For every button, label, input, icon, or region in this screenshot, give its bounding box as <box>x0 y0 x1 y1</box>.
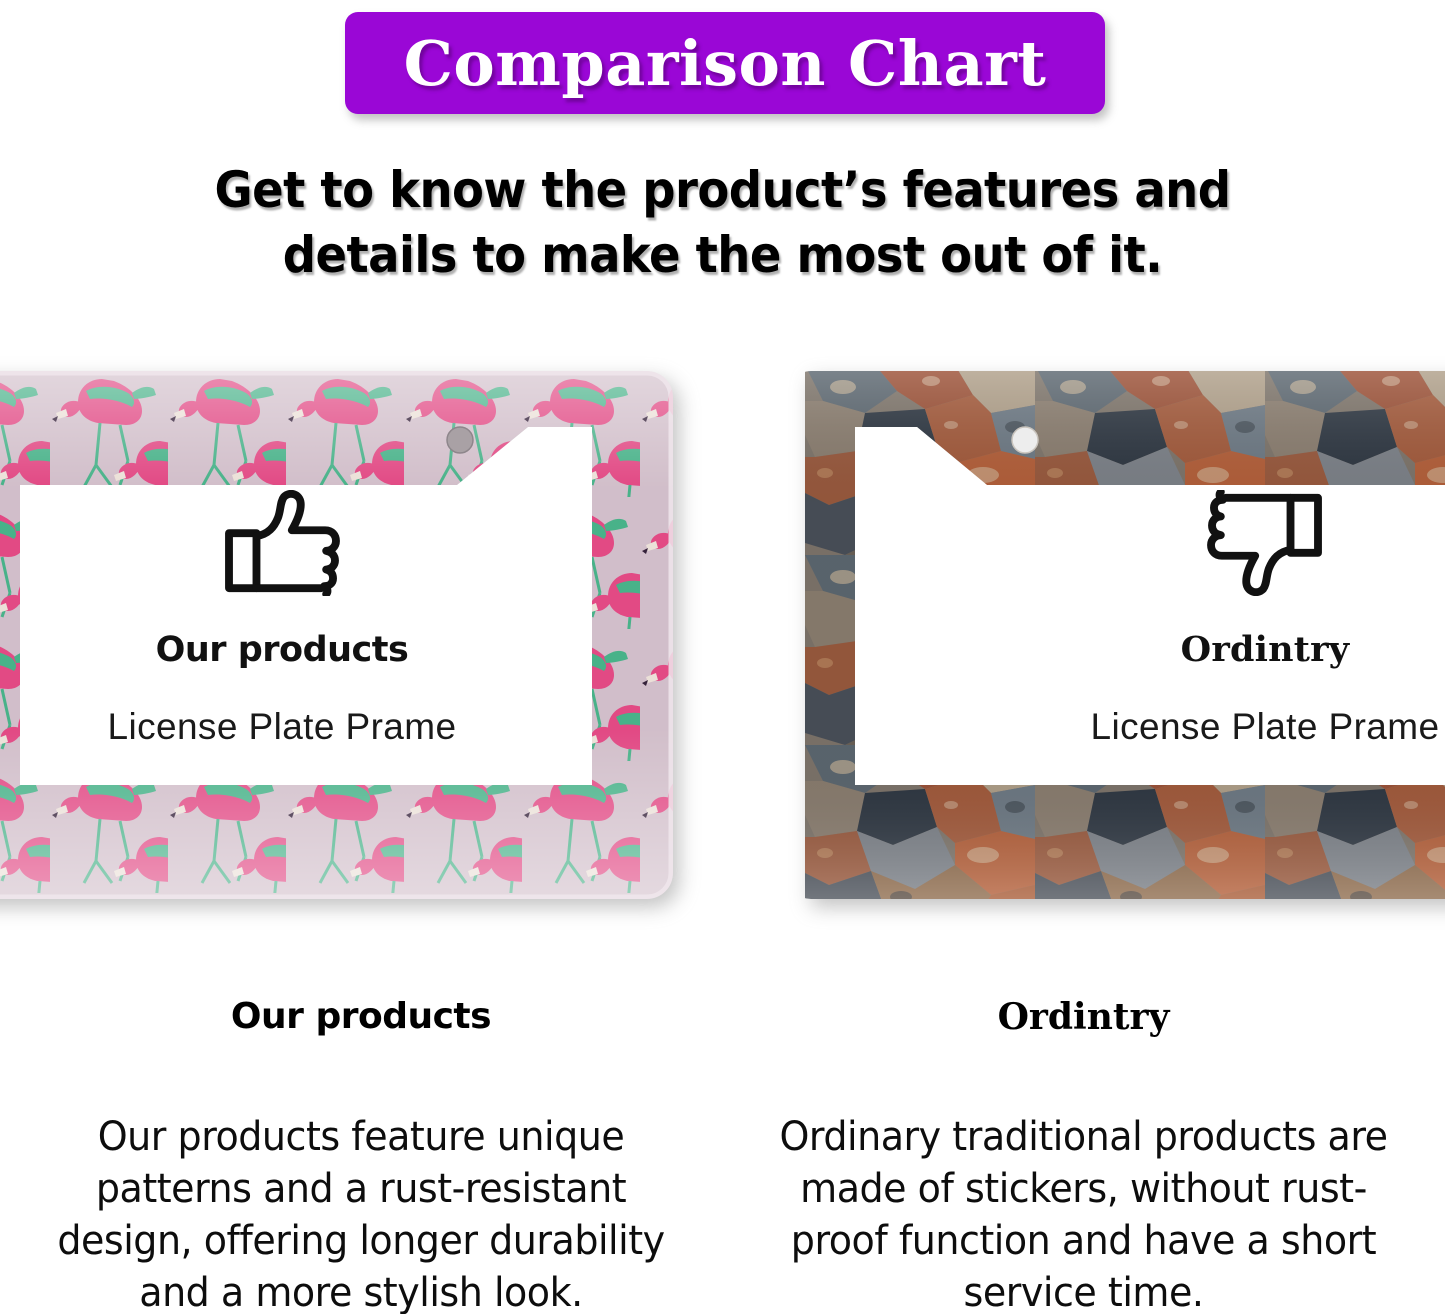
our-product-description-column: Our products Our products feature unique… <box>0 995 722 1314</box>
thumbs-up-icon <box>223 490 341 596</box>
subtitle: Get to know the product’s features and d… <box>51 158 1395 288</box>
ordinary-product-description: Ordinary traditional products are made o… <box>761 1111 1406 1314</box>
comparison-chart-banner: Comparison Chart <box>345 12 1105 114</box>
ordinary-product-plate-frame: Ordintry License Plate Prame <box>805 365 1445 905</box>
page-title: Comparison Chart <box>404 27 1047 100</box>
product-frames-area: Our products License Plate Prame <box>0 350 1445 930</box>
our-product-frame-label: Our products <box>156 630 409 670</box>
ordinary-product-heading: Ordintry <box>744 995 1423 1039</box>
subtitle-line-2: details to make the most out of it. <box>51 223 1395 288</box>
our-product-plate-content: Our products License Plate Prame <box>22 490 542 748</box>
description-columns: Our products Our products feature unique… <box>0 995 1445 1314</box>
thumbs-down-icon <box>1206 490 1324 596</box>
our-product-plate-frame: Our products License Plate Prame <box>0 365 677 905</box>
our-product-heading: Our products <box>22 995 700 1039</box>
ordinary-product-description-column: Ordintry Ordinary traditional products a… <box>722 995 1445 1314</box>
ordinary-product-frame-label: Ordintry <box>1181 630 1350 670</box>
our-product-description: Our products feature unique patterns and… <box>39 1111 683 1314</box>
our-product-frame-sublabel: License Plate Prame <box>107 706 456 748</box>
subtitle-line-1: Get to know the product’s features and <box>51 158 1395 223</box>
ordinary-product-frame-sublabel: License Plate Prame <box>1090 706 1439 748</box>
ordinary-product-plate-content: Ordintry License Plate Prame <box>1010 490 1445 748</box>
